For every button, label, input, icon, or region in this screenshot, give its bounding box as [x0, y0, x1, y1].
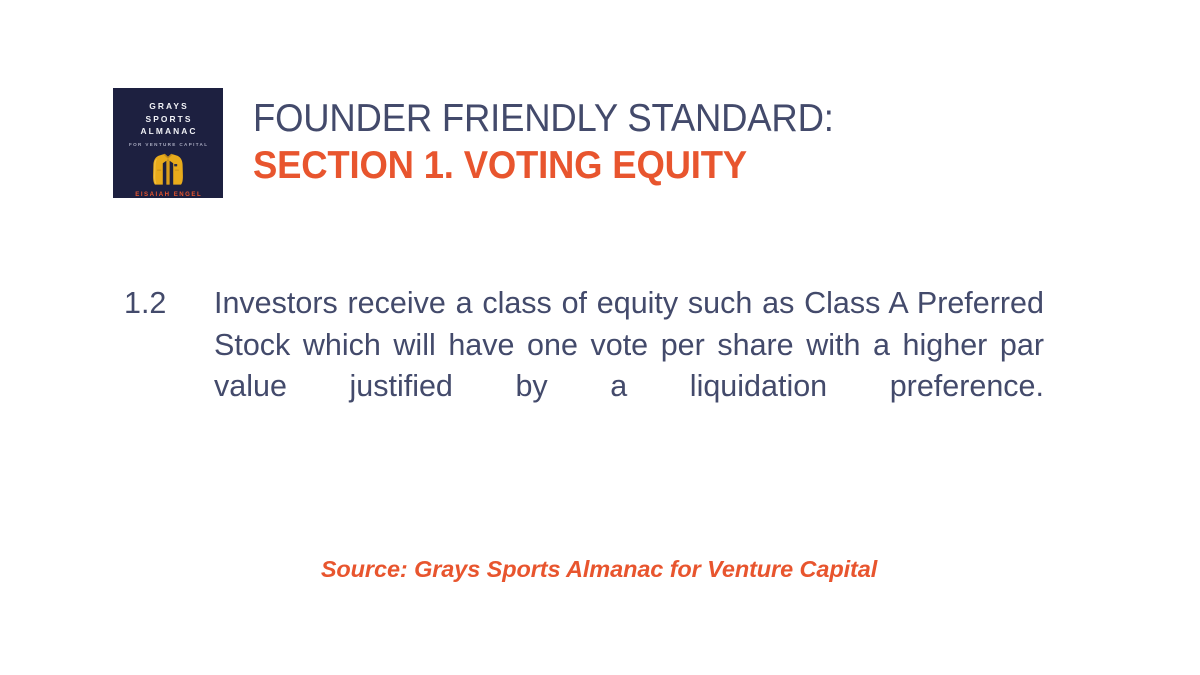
page-title-primary: FOUNDER FRIENDLY STANDARD: [253, 96, 834, 142]
logo-text-line3: ALMANAC [138, 125, 197, 138]
grays-sports-almanac-logo: GRAYS SPORTS ALMANAC FOR VENTURE CAPITAL… [113, 88, 223, 198]
clause-number: 1.2 [124, 283, 214, 325]
slide-header: GRAYS SPORTS ALMANAC FOR VENTURE CAPITAL… [113, 88, 1113, 200]
clause-text: Investors receive a class of equity such… [214, 283, 1044, 449]
slide-canvas: GRAYS SPORTS ALMANAC FOR VENTURE CAPITAL… [0, 0, 1200, 675]
logo-text-line2: SPORTS [143, 113, 192, 126]
title-block: FOUNDER FRIENDLY STANDARD: SECTION 1. VO… [253, 96, 874, 190]
source-attribution-text: Source: Grays Sports Almanac for Venture… [321, 556, 877, 583]
source-attribution: Source: Grays Sports Almanac for Venture… [0, 556, 1200, 583]
logo-subtitle: FOR VENTURE CAPITAL [128, 140, 209, 149]
logo-text-line1: GRAYS [147, 100, 189, 113]
page-title-secondary: SECTION 1. VOTING EQUITY [253, 142, 834, 190]
logo-author: EISAIAH ENGEL [134, 191, 202, 198]
clause-block: 1.2 Investors receive a class of equity … [124, 283, 1044, 449]
vest-icon [151, 153, 185, 186]
